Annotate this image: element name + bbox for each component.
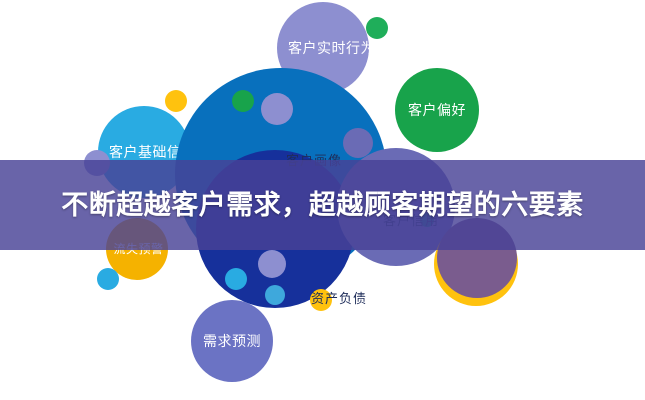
bubble-accent-skyblue-a: [225, 268, 247, 290]
hero-image: 客户实时行为客户偏好客户基础信息客户等级需求预测流失预警客户画像客户信用资产负债…: [0, 0, 645, 400]
bubble-accent-gold-top-left: [165, 90, 187, 112]
bubble-label: 客户偏好: [402, 102, 472, 119]
bubble-label: 需求预测: [197, 333, 267, 350]
bubble-accent-lavender-mid: [261, 93, 293, 125]
title-overlay-band: 不断超越客户需求，超越顾客期望的六要素: [0, 160, 645, 250]
bubble-accent-lavender-low: [258, 250, 286, 278]
bubble-accent-skyblue-c: [97, 268, 119, 290]
label-assets-liabilities-text: 资产负债: [311, 288, 367, 307]
bubble-accent-green-top: [366, 17, 388, 39]
bubble-accent-skyblue-b: [265, 285, 285, 305]
bubble-label: 客户基础信息: [103, 144, 185, 161]
bubble-demand-forecast: 需求预测: [191, 300, 273, 382]
bubble-accent-green-small: [232, 90, 254, 112]
bubble-customer-preference: 客户偏好: [395, 68, 479, 152]
bubble-label: 客户实时行为: [282, 40, 364, 57]
bubble-accent-slate-right: [343, 128, 373, 158]
page-title: 不断超越客户需求，超越顾客期望的六要素: [26, 188, 619, 223]
